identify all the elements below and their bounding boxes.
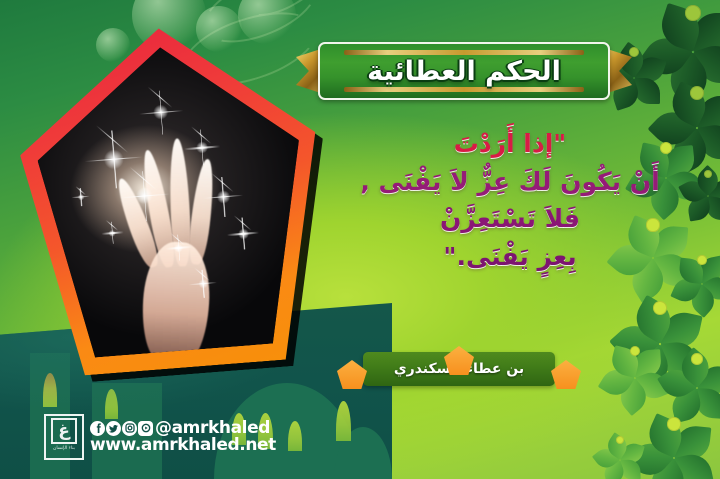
mosque-window-5 [288,421,302,451]
hand-illustration [113,110,239,331]
banner-gold-rule-bottom [344,87,584,92]
footer-branding: غ بناء الإنسان @amrkhaled www.amrkhaled. [44,414,276,460]
flower-decoration [600,420,640,460]
flower-decoration [608,324,662,378]
twitter-icon[interactable] [106,421,121,436]
mosque-window-6 [336,401,351,441]
quote-line-1: "إذا أَرَدْتَ [324,126,696,162]
facebook-icon[interactable] [90,421,105,436]
logo-glyph: غ [51,418,77,444]
pentagon-ornament-right [551,360,581,389]
logo-subtitle: بناء الإنسان [53,446,75,451]
website-url[interactable]: www.amrkhaled.net [90,437,276,454]
mosque-dome-small [334,427,392,479]
series-title-banner: الحكم العطائية [296,42,632,100]
author-banner: بن عطاء السكندري [337,352,581,386]
flower-decoration [640,390,708,458]
amr-khaled-logo: غ بناء الإنسان [44,414,84,460]
series-title-text: الحكم العطائية [367,56,561,87]
banner-gold-rule-top [344,50,584,55]
quote-line-2: أَنْ يَكُونَ لَكَ عِزٌّ لاَ يَفْنَى , [324,164,696,200]
photo-frame [11,17,333,379]
instagram-icon[interactable] [122,421,137,436]
youtube-icon[interactable] [138,421,153,436]
quote-line-4: بِعِزٍ يَفْنَى." [324,239,696,275]
poster-canvas: الحكم العطائية "إذا أَرَدْتَ أَنْ يَكُون… [0,0,720,479]
flower-decoration [654,0,720,52]
quote-block: "إذا أَرَدْتَ أَنْ يَكُونَ لَكَ عِزٌّ لا… [324,126,696,274]
quote-line-3: فَلاَ تَسْتَعِزَّنْ [324,201,696,237]
flower-decoration [668,330,720,388]
